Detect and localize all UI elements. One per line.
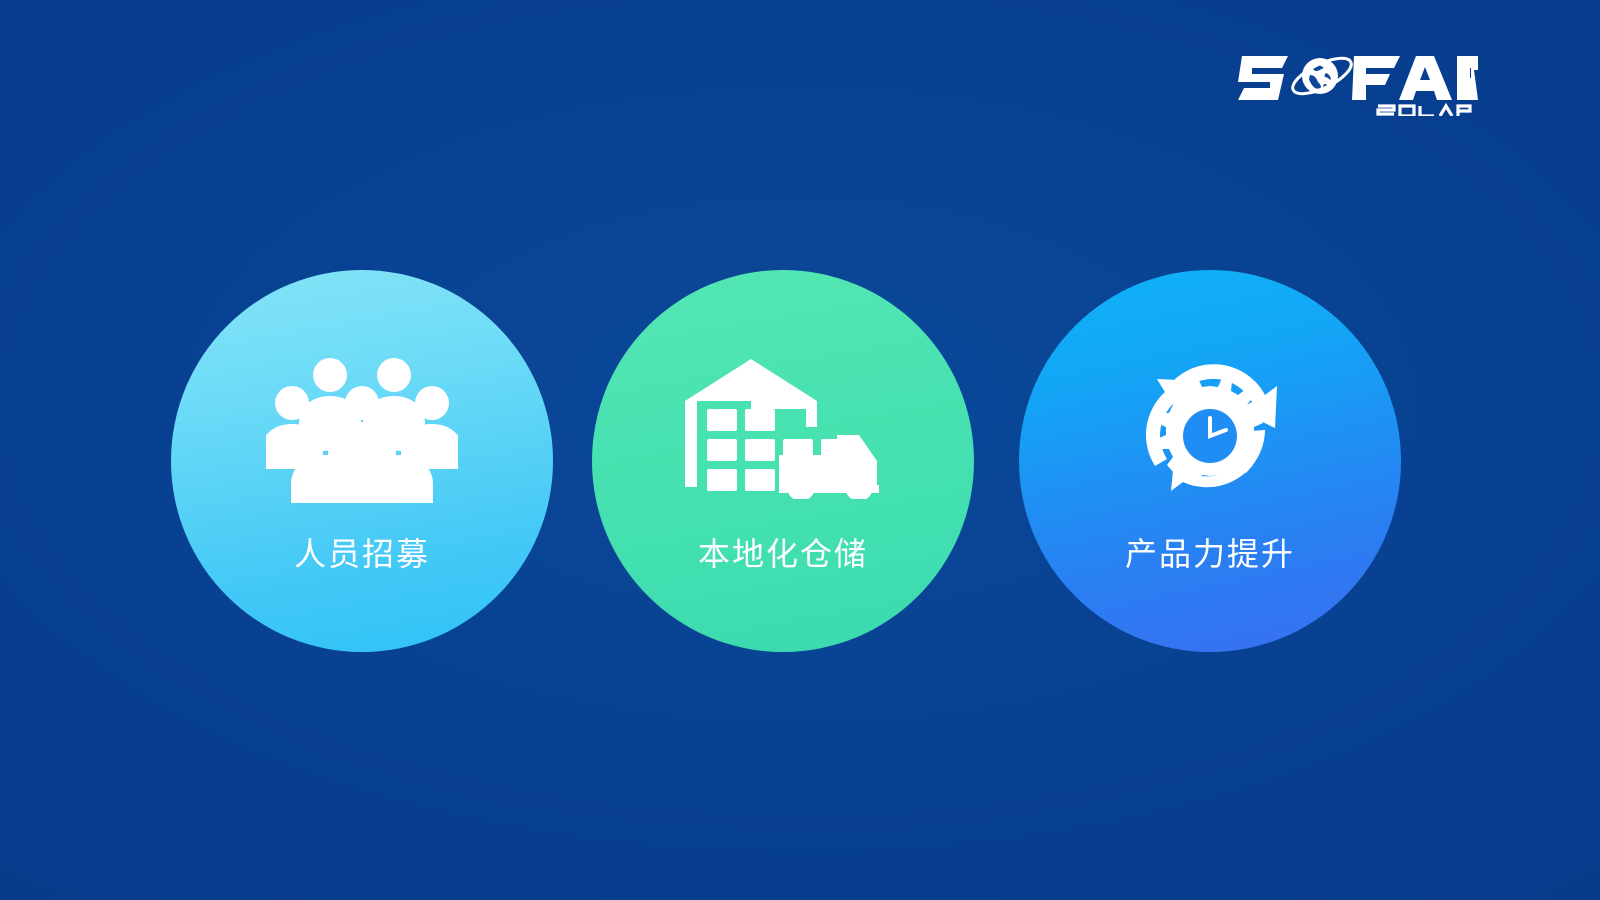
- feature-circle-label: 人员招募: [294, 538, 430, 570]
- feature-circle-label: 产品力提升: [1125, 538, 1295, 570]
- feature-circle-local-warehousing[interactable]: 本地化仓储: [592, 270, 974, 652]
- warehouse-truck-icon: [683, 354, 883, 504]
- feature-circle-label: 本地化仓储: [698, 538, 868, 570]
- globe-icon: [1288, 51, 1356, 101]
- feature-circles: 人员招募: [0, 270, 1600, 660]
- feature-circle-product-capability[interactable]: 产品力提升: [1019, 270, 1401, 652]
- sofar-solar-logo: [1238, 48, 1478, 116]
- feature-circle-recruitment[interactable]: 人员招募: [171, 270, 553, 652]
- slide-canvas: 人员招募: [0, 0, 1600, 900]
- gear-clock-refresh-icon: [1110, 354, 1310, 504]
- people-group-icon: [262, 354, 462, 504]
